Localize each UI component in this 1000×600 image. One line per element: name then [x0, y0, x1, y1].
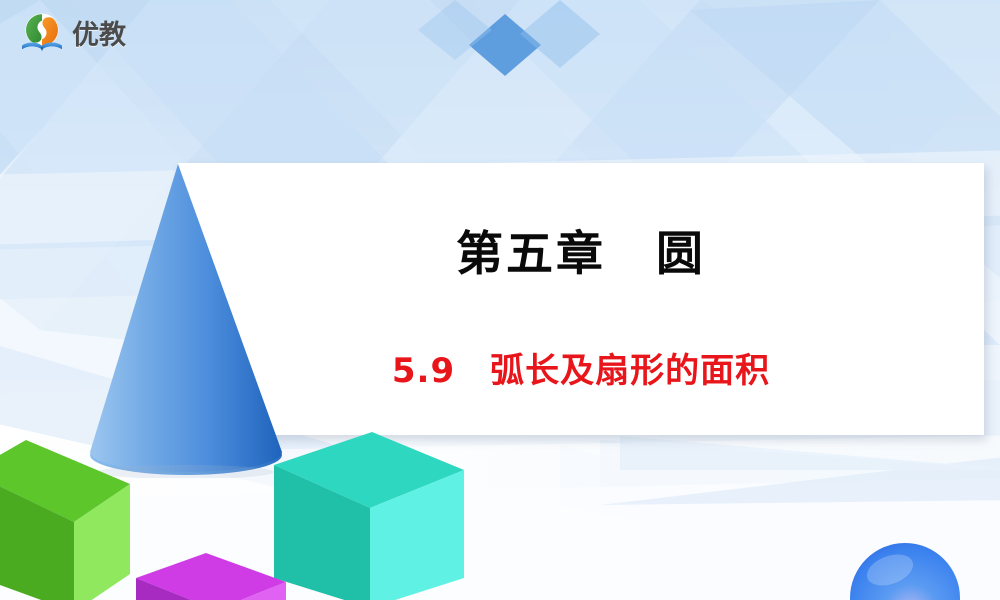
purple-cube: [128, 548, 293, 600]
book-swirl-logo-icon: [18, 10, 66, 58]
slide-canvas: 优教: [0, 0, 1000, 600]
page-subtitle: 5.9 弧长及扇形的面积: [178, 343, 984, 392]
green-cube: [0, 424, 140, 600]
teal-cube: [258, 428, 490, 600]
title-card: 第五章 圆 5.9 弧长及扇形的面积: [178, 163, 984, 435]
logo-wordmark: 优教: [72, 22, 126, 49]
youjiao-logo: 优教: [18, 8, 150, 60]
blue-sphere: [848, 538, 966, 600]
page-title: 第五章 圆: [178, 215, 984, 284]
